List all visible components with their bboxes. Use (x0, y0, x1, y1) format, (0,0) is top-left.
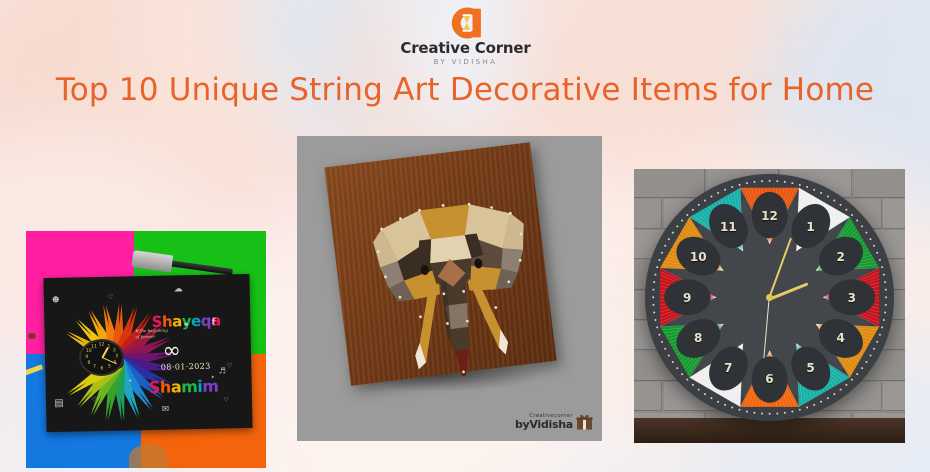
clock-nail (724, 404, 726, 406)
wall-clock: 121234567891011 (645, 174, 894, 421)
star-doodle-icon: ✦ (211, 375, 215, 381)
clock-nail (861, 226, 863, 228)
clock-nail (861, 368, 863, 370)
clock-nail (776, 413, 778, 415)
photo1-pencil (28, 333, 35, 339)
clock-nail (761, 181, 763, 183)
clock-nail (746, 411, 748, 413)
rainbow-letter: a (172, 312, 182, 330)
ring-doodle-icon: ⚭ (183, 320, 190, 329)
clock-nail (806, 407, 808, 409)
clock-nail (845, 209, 847, 211)
clock-nail (845, 384, 847, 386)
clock-nail (652, 304, 654, 306)
clock-nail (654, 319, 656, 321)
clock-nail (883, 274, 885, 276)
clock-nail (672, 361, 674, 363)
clock-nail (686, 379, 688, 381)
rainbow-letter: h (160, 377, 171, 396)
clock-number: 8 (694, 331, 702, 345)
clock-nail (717, 401, 719, 403)
string-art-wall-clock-photo: 121234567891011 (634, 169, 905, 443)
mini-clock-number: 7 (93, 365, 96, 370)
clock-nail (865, 361, 867, 363)
rainbow-letter: m (181, 377, 198, 396)
clock-nail (820, 401, 822, 403)
clock-number: 3 (848, 291, 856, 305)
clock-nail (851, 214, 853, 216)
rainbow-letter: S (149, 377, 160, 396)
clock-nail (681, 374, 683, 376)
clock-nail (704, 394, 706, 396)
name-board-string-art-photo: 121234567891011 #The beginning of foreve… (26, 231, 266, 468)
star-doodle-icon: ✦ (128, 378, 132, 384)
clock-nail (884, 282, 886, 284)
clock-nail (692, 384, 694, 386)
photo1-infinity-symbol: ∞ (163, 343, 205, 358)
clock-nail (879, 259, 881, 261)
clock-nail (724, 189, 726, 191)
clock-nail (884, 312, 886, 314)
heart-doodle-icon: ♡ (224, 396, 230, 403)
clock-nail (820, 192, 822, 194)
mini-clock-number: 5 (108, 365, 111, 370)
music-note-doodle-icon: ♬ (219, 367, 226, 376)
clock-nail (661, 341, 663, 343)
clock-nail (704, 200, 706, 202)
clock-nail (738, 184, 740, 186)
clock-nail (885, 289, 887, 291)
clock-nail (827, 398, 829, 400)
clock-nail (876, 341, 878, 343)
clock-number: 6 (765, 372, 773, 386)
clock-nail (656, 267, 658, 269)
clock-nail (879, 334, 881, 336)
clock-number: 9 (683, 291, 691, 305)
clock-nail (761, 413, 763, 415)
clock-nail (885, 297, 887, 299)
clock-number: 4 (837, 331, 845, 345)
clock-nail (698, 204, 700, 206)
clock-nail (856, 374, 858, 376)
clock-nail (731, 187, 733, 189)
clock-nail (664, 348, 666, 350)
watermark-bottom-text: byVidisha (515, 419, 573, 430)
clock-nail (813, 404, 815, 406)
heart-doodle-icon: ♡ (91, 396, 97, 403)
clock-number: 12 (761, 209, 778, 223)
clock-nail (710, 398, 712, 400)
clock-nail (865, 232, 867, 234)
clock-nail (698, 389, 700, 391)
rainbow-letter: S (152, 313, 163, 331)
clock-nail (664, 245, 666, 247)
clock-nail (753, 412, 755, 414)
clock-nail (851, 379, 853, 381)
clock-nail (833, 394, 835, 396)
clock-nail (869, 355, 871, 357)
cloud-doodle-icon: ☁ (174, 285, 183, 295)
c-monogram-hourglass-icon (446, 6, 486, 40)
clock-nail (791, 183, 793, 185)
clock-nail (710, 196, 712, 198)
mini-clock-number: 6 (101, 367, 104, 372)
clock-number: 11 (720, 220, 737, 234)
gift-box-icon (576, 414, 593, 430)
rainbow-letter: h (162, 312, 173, 330)
mini-clock-number: 3 (115, 354, 118, 359)
clock-nail (768, 180, 770, 182)
mini-clock-number: 12 (99, 343, 105, 348)
facebook-doodle-icon: f (212, 318, 216, 328)
clock-nail (876, 252, 878, 254)
mini-clock-number: 11 (91, 344, 97, 349)
heart-doodle-icon: ♡ (143, 399, 149, 406)
clock-nail (681, 220, 683, 222)
clock-nail (827, 196, 829, 198)
mini-clock-number: 10 (86, 349, 92, 354)
heart-doodle-icon: ♡ (227, 362, 233, 369)
rainbow-letter: a (171, 377, 182, 396)
clock-nail (717, 192, 719, 194)
clock-nail (661, 252, 663, 254)
mini-clock-number: 8 (88, 361, 91, 366)
elephant-string-art-photo: Creativecorner byVidisha (297, 136, 602, 441)
newspaper-doodle-icon: ▤ (54, 398, 64, 409)
clock-nail (658, 259, 660, 261)
clock-nail (653, 312, 655, 314)
clock-nail (784, 181, 786, 183)
clock-nail (653, 282, 655, 284)
clock-nail (873, 348, 875, 350)
photo3-table-surface (634, 418, 905, 443)
photo1-date-text: 08·01·2023 (161, 362, 211, 372)
clock-nail (658, 334, 660, 336)
clock-nail (731, 407, 733, 409)
logo-tagline-text: BY VIDISHA (434, 58, 498, 66)
clock-nail (686, 214, 688, 216)
clock-nail (652, 289, 654, 291)
clock-nail (692, 209, 694, 211)
clock-nail (776, 181, 778, 183)
clock-nail (799, 184, 801, 186)
elephant-head-artwork (340, 163, 563, 383)
clock-nail (738, 409, 740, 411)
clock-number: 5 (806, 361, 814, 375)
clock-nail (873, 245, 875, 247)
rainbow-letter: e (191, 312, 201, 330)
heart-doodle-icon: ♡ (108, 294, 114, 301)
clock-nail (799, 409, 801, 411)
brand-logo[interactable]: Creative Corner BY VIDISHA (388, 6, 543, 64)
clock-nail (839, 389, 841, 391)
clock-number: 7 (724, 361, 732, 375)
clock-nail (672, 232, 674, 234)
clock-nail (746, 183, 748, 185)
clock-nail (839, 204, 841, 206)
clock-nail (652, 297, 654, 299)
banner-root: Creative Corner BY VIDISHA Top 10 Unique… (0, 0, 930, 472)
clock-nail (881, 267, 883, 269)
photo1-leaf-decor (129, 444, 167, 468)
clock-nail (668, 355, 670, 357)
page-title: Top 10 Unique String Art Decorative Item… (0, 72, 930, 108)
photo1-chalk-board: 121234567891011 #The beginning of foreve… (44, 274, 254, 432)
clock-nail (883, 319, 885, 321)
clock-nail (833, 200, 835, 202)
clock-number: 1 (806, 220, 814, 234)
clock-nail (784, 412, 786, 414)
clock-nail (885, 304, 887, 306)
mini-clock-number: 2 (113, 348, 116, 353)
clock-number: 2 (837, 250, 845, 264)
clock-nail (813, 189, 815, 191)
clock-nail (881, 327, 883, 329)
clock-nail (676, 368, 678, 370)
clock-nail (753, 181, 755, 183)
envelope-doodle-icon: ✉ (162, 405, 170, 415)
logo-name-text: Creative Corner (400, 41, 530, 56)
clock-nail (668, 239, 670, 241)
clock-nail (656, 327, 658, 329)
clock-nail (791, 411, 793, 413)
clock-nail (869, 239, 871, 241)
clock-number: 10 (690, 250, 707, 264)
rainbow-letter: q (201, 312, 212, 330)
bird-doodle-icon: ☻ (52, 296, 59, 304)
photo2-watermark: Creativecorner byVidisha (515, 414, 593, 431)
clock-nail (676, 226, 678, 228)
clock-nail (806, 187, 808, 189)
photo1-name-bottom: Shamim (149, 376, 219, 396)
hammer-handle (170, 260, 233, 275)
mini-clock-number: 9 (86, 355, 89, 360)
clock-nail (768, 413, 770, 415)
clock-nail (654, 274, 656, 276)
clock-nail (856, 220, 858, 222)
